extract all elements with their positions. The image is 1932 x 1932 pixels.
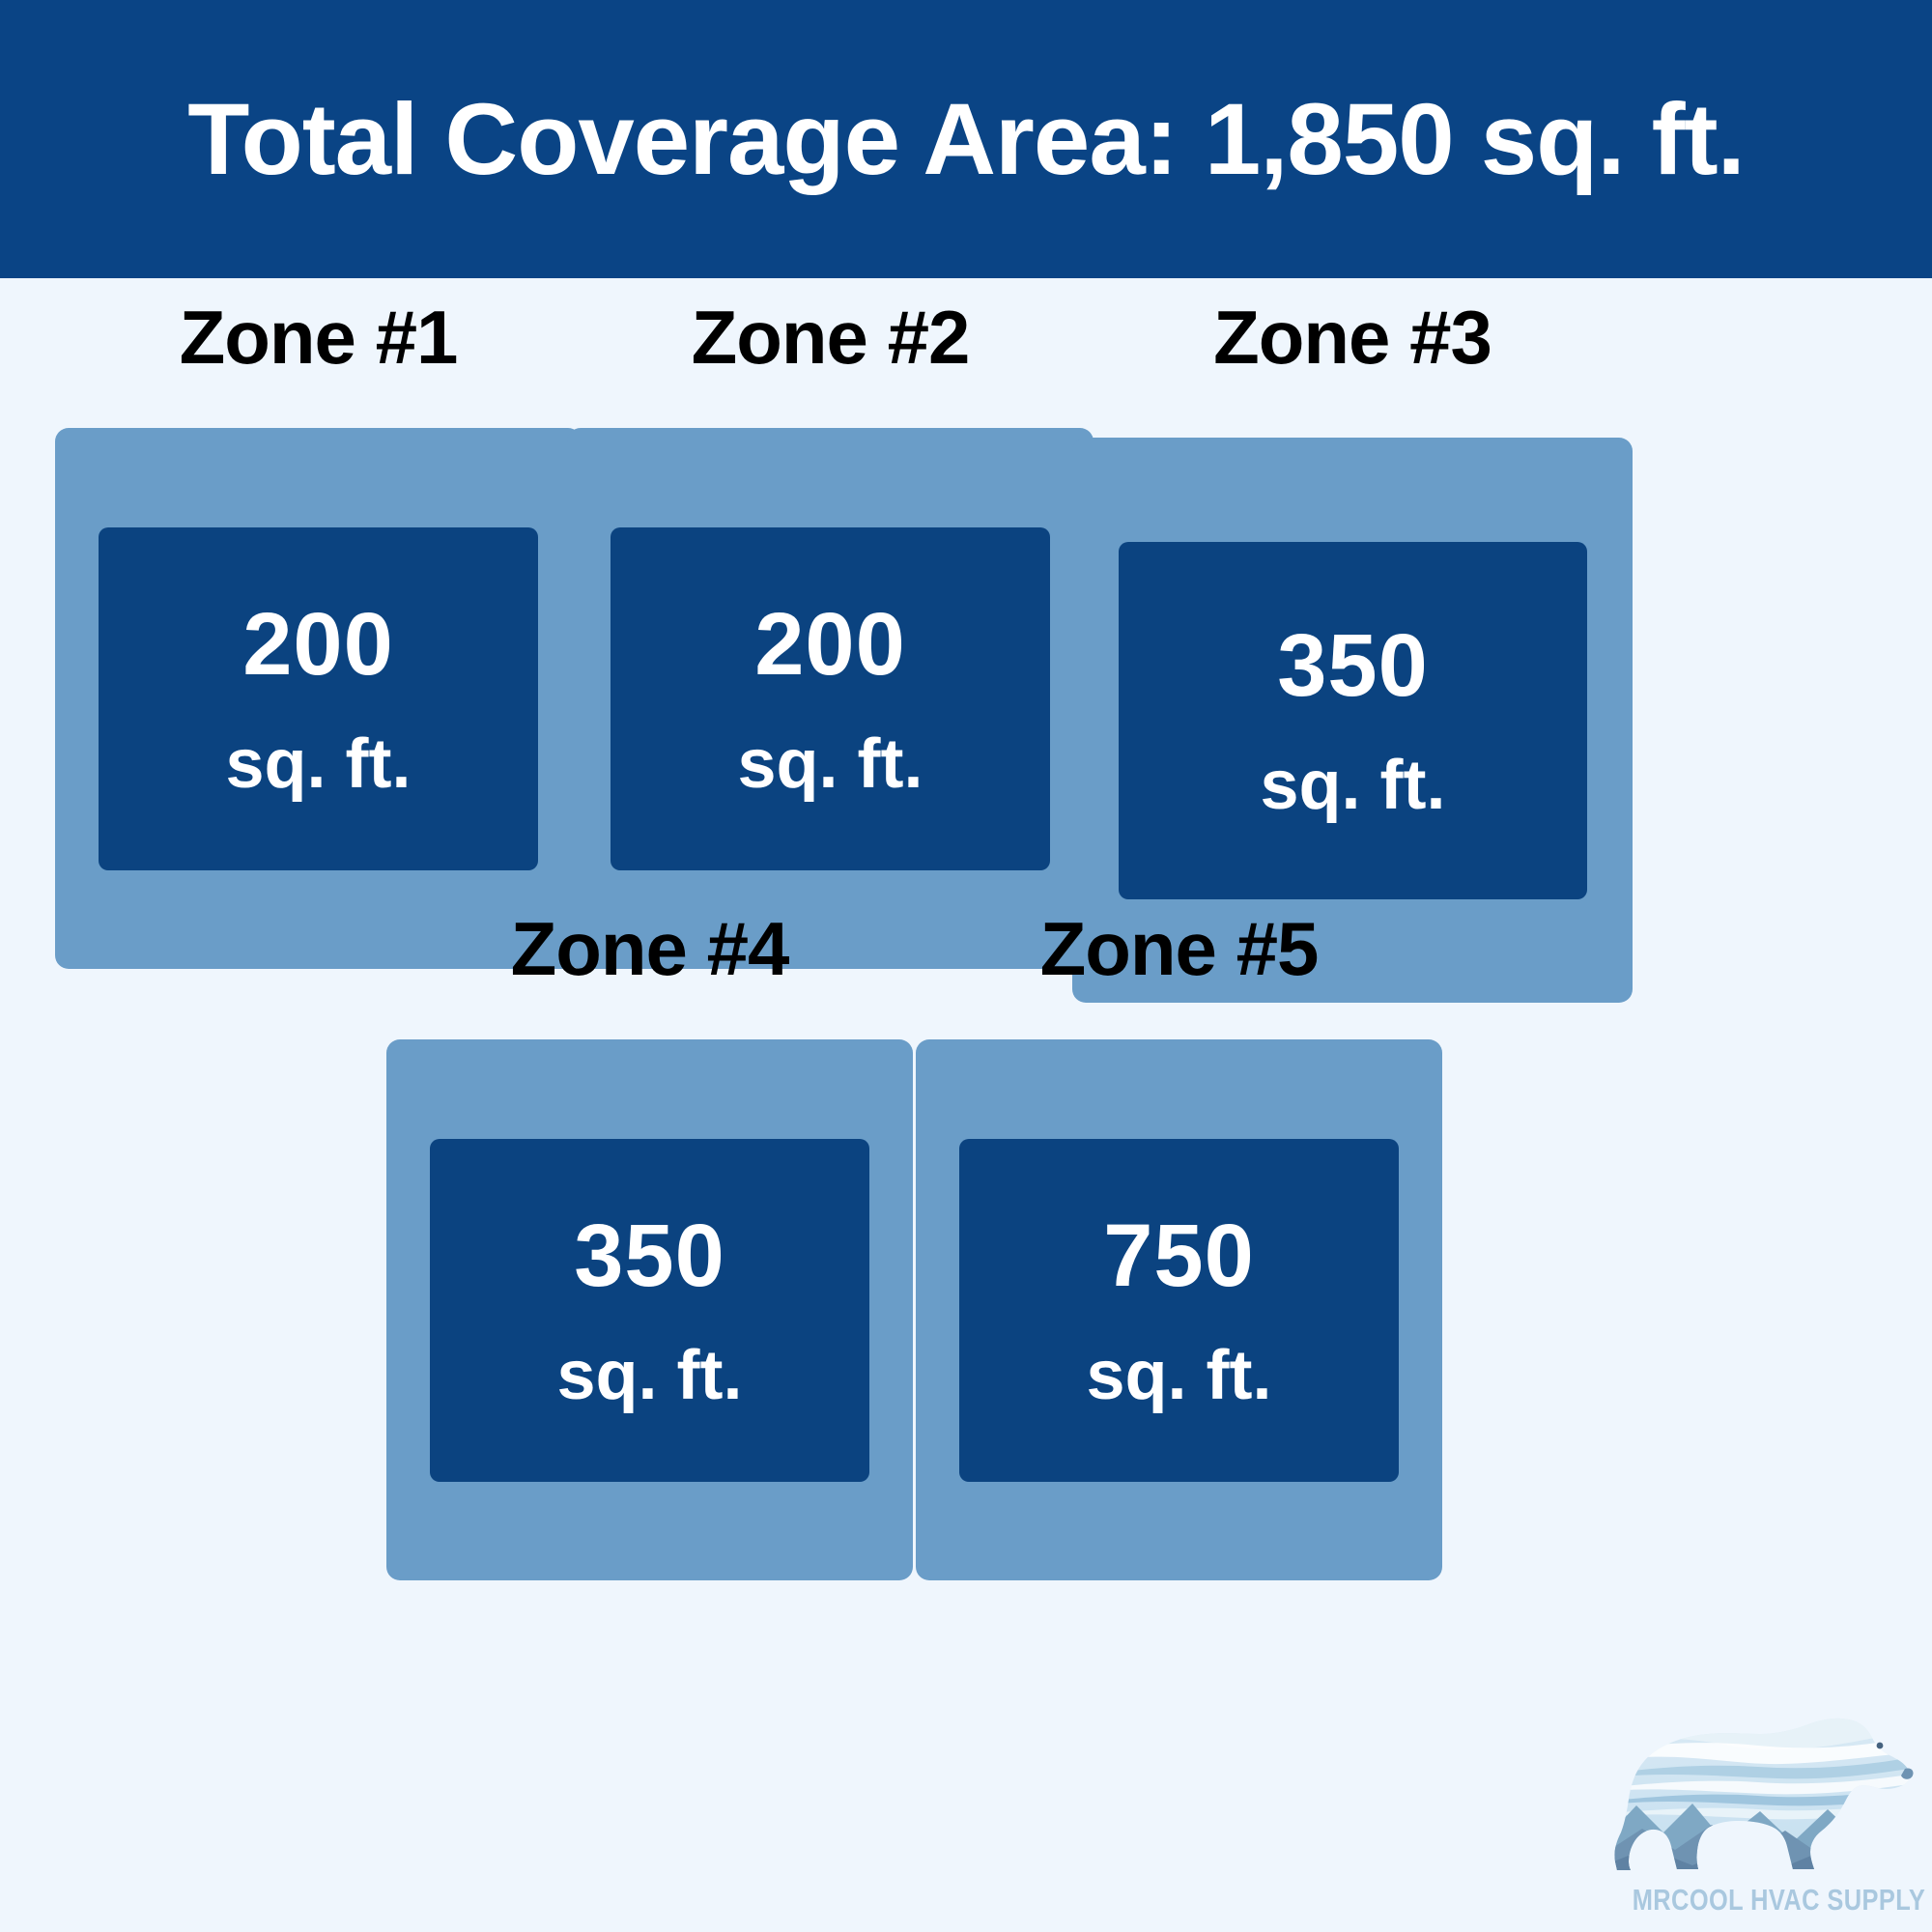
zone-inner-box-2: 200 sq. ft. [611,527,1050,870]
zone-card-4[interactable]: Zone #4 350 sq. ft. [386,887,913,1689]
polar-bear-icon [1604,1695,1922,1879]
zone-label-2: Zone #2 [567,299,1094,375]
zone-label-1: Zone #1 [55,299,582,375]
zone-label-4: Zone #4 [386,911,913,986]
brand-name: MRCOOL HVAC SUPPLY [1633,1885,1894,1915]
zone-outer-box-5: 750 sq. ft. [916,1039,1442,1580]
zone-value-4: 350 [574,1211,725,1300]
zone-inner-box-1: 200 sq. ft. [99,527,538,870]
zone-value-2: 200 [754,600,906,689]
zone-outer-box-4: 350 sq. ft. [386,1039,913,1580]
zone-inner-box-4: 350 sq. ft. [430,1139,869,1482]
brand-logo: MRCOOL HVAC SUPPLY [1604,1695,1922,1927]
zone-label-3: Zone #3 [1072,299,1633,375]
zone-unit-3: sq. ft. [1261,751,1446,820]
zone-unit-5: sq. ft. [1087,1341,1272,1410]
zones-grid: Zone #1 200 sq. ft. Zone #2 200 sq. ft. … [0,278,1932,1932]
zone-value-1: 200 [242,600,394,689]
zone-unit-4: sq. ft. [557,1341,743,1410]
zone-value-5: 750 [1103,1211,1255,1300]
zone-unit-1: sq. ft. [226,729,412,799]
zone-card-5[interactable]: Zone #5 750 sq. ft. [916,887,1442,1689]
page-title: Total Coverage Area: 1,850 sq. ft. [187,89,1745,190]
header-banner: Total Coverage Area: 1,850 sq. ft. [0,0,1932,278]
zone-inner-box-5: 750 sq. ft. [959,1139,1399,1482]
zone-unit-2: sq. ft. [738,729,923,799]
zone-label-5: Zone #5 [916,911,1442,986]
zone-value-3: 350 [1277,621,1429,710]
zone-inner-box-3: 350 sq. ft. [1119,542,1587,899]
